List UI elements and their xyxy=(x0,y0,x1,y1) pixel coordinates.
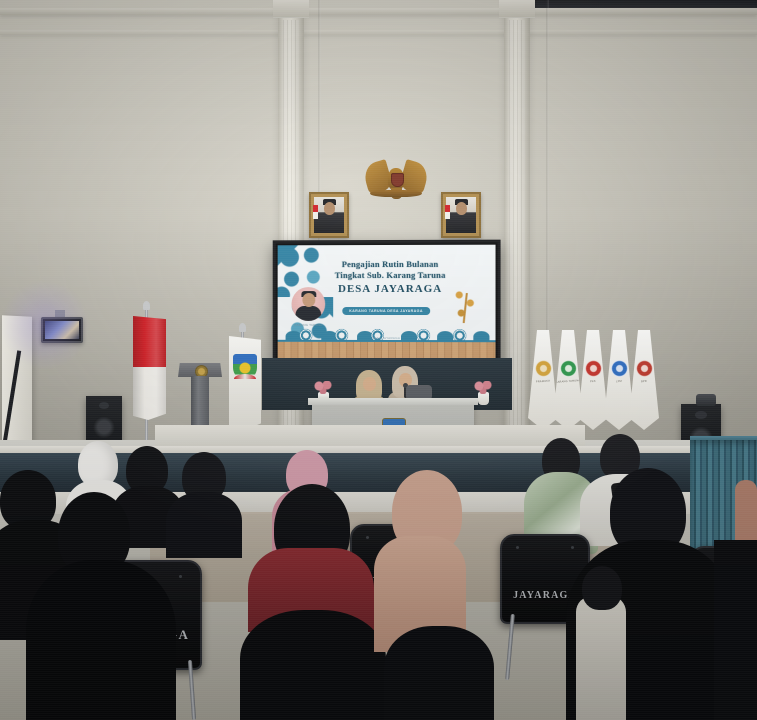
banner-line-2: Tingkat Sub. Karang Taruna xyxy=(301,270,479,281)
event-banner: Pengajian Rutin Bulanan Tingkat Sub. Kar… xyxy=(278,245,496,362)
banner-ornament-sprig xyxy=(453,291,477,325)
org-flag-label-1: KARANG TARUNA xyxy=(555,379,581,384)
org-flag-label-2: PKK xyxy=(580,379,606,384)
photo-scene: Pengajian Rutin Bulanan Tingkat Sub. Kar… xyxy=(0,0,757,720)
banner-date-pill: KARANG TARUNA DESA JAYARAGA xyxy=(342,307,430,315)
garut-flag xyxy=(229,336,261,430)
audience-body-6 xyxy=(384,626,494,720)
org-flag-label-3: LPM xyxy=(606,379,632,384)
audience-child-lightpants xyxy=(576,596,626,720)
portrait-president xyxy=(309,192,349,238)
org-flag-label-0: PRAMUKA xyxy=(530,379,556,384)
banner-photo-caption: KARANG TARUNA xyxy=(288,323,330,327)
audience-body-2 xyxy=(166,492,242,558)
garuda-pancasila-icon xyxy=(365,160,427,202)
banner-portrait-photo xyxy=(292,287,326,321)
flower-vase-right xyxy=(478,392,489,405)
org-flag-label-4: BPD xyxy=(631,379,657,384)
audience-body-right-edge xyxy=(714,540,757,720)
pa-speaker-cap xyxy=(696,394,716,406)
banner-line-1: Pengajian Rutin Bulanan xyxy=(301,259,479,270)
audience-body-5 xyxy=(240,610,386,720)
portrait-vice-president xyxy=(441,192,481,238)
audience-body-4 xyxy=(26,560,176,720)
org-flag-2: PKK xyxy=(578,330,608,430)
audience-head-child xyxy=(582,566,622,610)
indonesia-flag xyxy=(133,316,166,420)
led-screen: Pengajian Rutin Bulanan Tingkat Sub. Kar… xyxy=(273,240,501,367)
wall-monitor xyxy=(41,317,83,343)
org-flag-4: BPD xyxy=(629,330,659,430)
